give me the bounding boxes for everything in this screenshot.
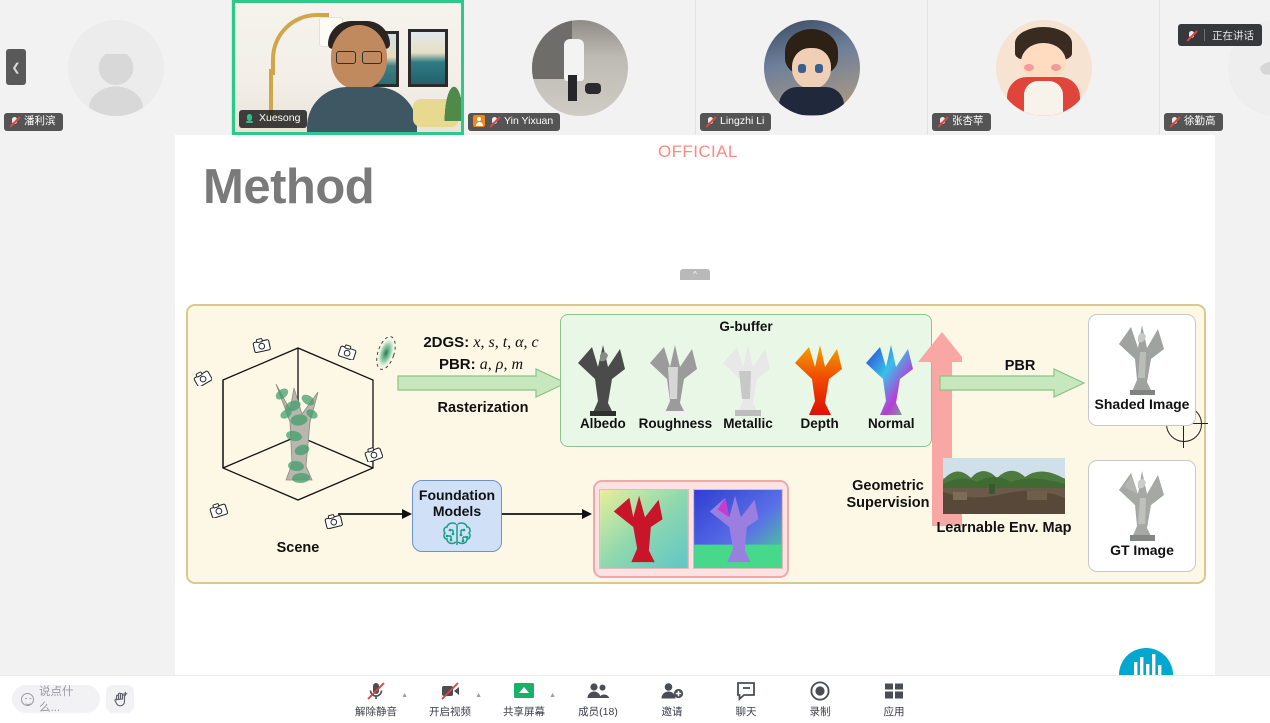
smiley-icon[interactable] (21, 693, 34, 706)
speaking-indicator: 正在讲话 (1178, 24, 1262, 46)
toolbar-mute-button[interactable]: 解除静音 ▲ (350, 680, 402, 719)
chevron-up-icon[interactable]: ▲ (549, 692, 556, 699)
params-2dgs-prefix: 2DGS: (423, 334, 469, 351)
chat-icon (735, 680, 757, 702)
geometric-supervision-label: Geometric Supervision (824, 478, 952, 513)
toolbar-chat-button[interactable]: 聊天 (720, 680, 772, 719)
host-badge-icon (473, 115, 485, 127)
default-avatar-icon (68, 20, 164, 116)
slide-title: Method (203, 159, 374, 215)
gbuffer-channel-label: Metallic (723, 416, 773, 431)
predicted-normal-image (693, 489, 783, 569)
toolbar-label: 录制 (810, 704, 831, 719)
gaussian-splat-icon (373, 334, 399, 372)
participant-tile[interactable]: 潘利滨 (0, 0, 232, 135)
avatar-image (996, 20, 1092, 116)
toolbar-invite-button[interactable]: 邀请 (646, 680, 698, 719)
official-marking: OFFICIAL (658, 142, 738, 162)
toolbar-actions: 解除静音 ▲ 开启视频 ▲ (350, 680, 920, 719)
foundation-models-line2: Models (433, 503, 481, 519)
collapse-strip-button[interactable]: ^ (680, 269, 710, 280)
camera-icon (209, 502, 228, 518)
toolbar-label: 共享屏幕 (503, 704, 545, 719)
camera-icon (252, 337, 271, 353)
gbuffer-channel-label: Roughness (639, 416, 713, 431)
mic-muted-icon (705, 116, 716, 127)
shaded-image-thumbnail (1111, 318, 1173, 398)
mic-muted-icon (1186, 30, 1197, 41)
toolbar-label: 邀请 (662, 704, 683, 719)
mic-muted-icon (937, 116, 948, 127)
participant-name: Xuesong (259, 112, 300, 125)
geo-sup-line2: Supervision (824, 495, 952, 512)
participant-tile[interactable]: 徐勤高 (1160, 0, 1270, 135)
toolbar-label: 解除静音 (355, 704, 397, 719)
strip-prev-button[interactable]: ❮ (6, 49, 26, 85)
gbuffer-channel-label: Albedo (580, 416, 626, 431)
shared-screen-stage: OFFICIAL Method (0, 135, 1270, 675)
participant-tile-active[interactable]: Xuesong (232, 0, 464, 135)
speaking-label: 正在讲话 (1212, 28, 1254, 43)
video-off-icon (439, 680, 461, 702)
camera-icon (193, 370, 212, 386)
chat-placeholder: 说点什么... (39, 683, 91, 715)
output-caption: Shaded Image (1095, 396, 1190, 412)
toolbar-label: 应用 (884, 704, 905, 719)
arrow-to-foundation-models-icon (338, 506, 414, 522)
scene-label: Scene (198, 540, 398, 556)
brain-circuit-icon (440, 521, 474, 549)
meeting-toolbar: 说点什么... (0, 675, 1270, 723)
mic-muted-icon (9, 116, 20, 127)
participant-name: 潘利滨 (24, 115, 56, 128)
mic-muted-icon (365, 680, 387, 702)
output-caption: GT Image (1110, 542, 1174, 558)
toolbar-share-screen-button[interactable]: 共享屏幕 ▲ (498, 680, 550, 719)
toolbar-participants-button[interactable]: 成员(18) (572, 680, 624, 719)
participant-name: 徐勤高 (1184, 115, 1216, 128)
toolbar-label: 开启视频 (429, 704, 471, 719)
toolbar-apps-button[interactable]: 应用 (868, 680, 920, 719)
presentation-slide: OFFICIAL Method (175, 135, 1215, 675)
scene-cube-diagram (198, 318, 398, 533)
toolbar-video-button[interactable]: 开启视频 ▲ (424, 680, 476, 719)
mic-active-icon (244, 113, 255, 124)
predicted-depth-image (599, 489, 689, 569)
gt-image-thumbnail (1111, 464, 1173, 544)
mic-muted-icon (1169, 116, 1180, 127)
geo-sup-line1: Geometric (824, 478, 952, 495)
mic-muted-icon (489, 116, 500, 127)
roughness-thumbnail (644, 337, 706, 419)
participant-tile[interactable]: Yin Yixuan (464, 0, 696, 135)
shaded-image-card: Shaded Image (1088, 314, 1196, 426)
params-2dgs-values: x, s, t, α, c (473, 334, 538, 351)
participants-icon (586, 680, 610, 702)
arrow-to-depth-normal-icon (502, 506, 594, 522)
participant-name: Yin Yixuan (504, 115, 553, 128)
participant-video-strip: 潘利滨 Xuesong (0, 0, 1270, 135)
chevron-up-icon[interactable]: ▲ (475, 692, 482, 699)
depth-normal-prediction-panel (593, 480, 789, 578)
foundation-models-line1: Foundation (419, 487, 495, 503)
chat-input[interactable]: 说点什么... (12, 685, 100, 713)
scene-block: Scene (198, 318, 398, 568)
participant-name-tag: 徐勤高 (1164, 113, 1223, 131)
avatar-image (532, 20, 628, 116)
gbuffer-channel: Metallic (712, 337, 784, 445)
participant-name-tag: 潘利滨 (4, 113, 63, 131)
share-screen-icon (512, 680, 536, 702)
gbuffer-channel: Albedo (567, 337, 639, 445)
raise-hand-icon (113, 691, 128, 707)
record-icon (809, 680, 831, 702)
toolbar-label: 成员(18) (578, 704, 618, 719)
env-map-label: Learnable Env. Map (906, 520, 1102, 536)
toolbar-label: 聊天 (736, 704, 757, 719)
gbuffer-channel: Roughness (639, 337, 713, 445)
pbr-arrow-icon (938, 368, 1086, 398)
avatar-image (764, 20, 860, 116)
participant-name-tag: Lingzhi Li (700, 113, 771, 131)
toolbar-record-button[interactable]: 录制 (794, 680, 846, 719)
rasterization-label: Rasterization (403, 400, 563, 416)
participant-name-tag: 张杏苹 (932, 113, 991, 131)
learnable-env-map-image (943, 458, 1065, 514)
participant-name: Lingzhi Li (720, 115, 764, 128)
meeting-window: 潘利滨 Xuesong (0, 0, 1270, 723)
metallic-thumbnail (717, 337, 779, 419)
apps-icon (883, 680, 905, 702)
foundation-models-box: Foundation Models (412, 480, 502, 552)
gt-image-card: GT Image (1088, 460, 1196, 572)
chevron-up-icon[interactable]: ▲ (401, 692, 408, 699)
participant-name-tag: Xuesong (239, 110, 307, 128)
rasterization-arrow-icon (396, 368, 568, 398)
participant-name-tag: Yin Yixuan (468, 113, 560, 131)
camera-icon (338, 344, 357, 360)
participant-tile[interactable]: 张杏苹 (928, 0, 1160, 135)
invite-icon (660, 680, 684, 702)
participant-tile[interactable]: Lingzhi Li (696, 0, 928, 135)
method-figure: Scene 2DGS: (186, 304, 1206, 584)
raise-hand-button[interactable] (106, 685, 134, 713)
participant-name: 张杏苹 (952, 115, 984, 128)
albedo-thumbnail (572, 337, 634, 419)
camera-icon (364, 446, 383, 462)
